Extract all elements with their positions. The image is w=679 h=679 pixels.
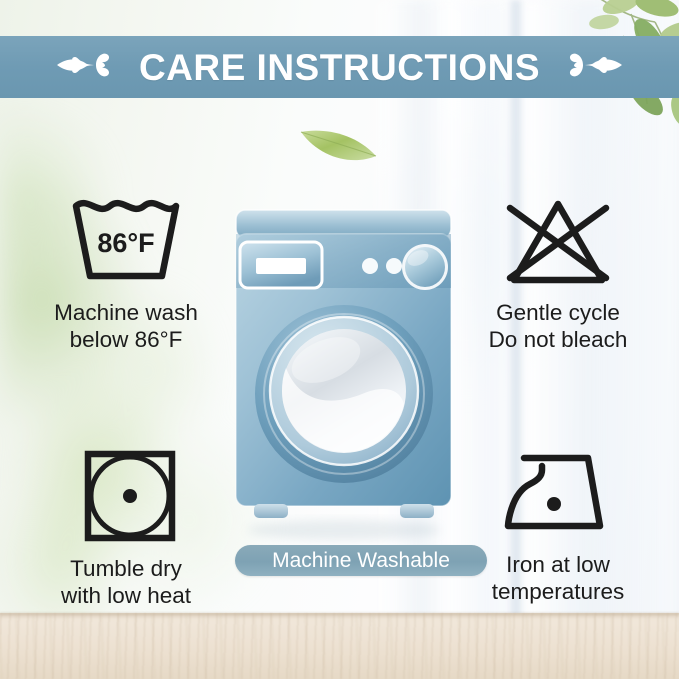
- control-knob: [402, 244, 448, 290]
- tumble-dry-heat-dot: [123, 489, 137, 503]
- table-wood-grain: [0, 613, 679, 679]
- tumble-dry-icon: [8, 448, 244, 549]
- care-symbol-caption: Machine wash below 86°F: [8, 299, 244, 353]
- wash-tub-icon: 86°F: [8, 196, 244, 293]
- care-symbol-caption: Gentle cycle Do not bleach: [440, 299, 676, 353]
- crossed-triangle-icon: [440, 196, 676, 293]
- care-symbol-machine-wash: 86°F Machine wash below 86°F: [8, 196, 244, 353]
- page-title: CARE INSTRUCTIONS: [139, 49, 540, 86]
- wooden-table-surface: [0, 613, 679, 679]
- floating-leaf-icon: [296, 118, 382, 170]
- iron-temperature-dot: [547, 497, 561, 511]
- washing-machine-illustration: [228, 208, 459, 544]
- fleur-de-lis-icon: [55, 45, 117, 90]
- badge-label: Machine Washable: [272, 550, 450, 571]
- iron-icon: [440, 448, 676, 545]
- wash-temperature-value: 86°F: [97, 228, 154, 258]
- fleur-de-lis-icon: [562, 45, 624, 90]
- indicator-light: [386, 258, 402, 274]
- machine-foot: [400, 504, 434, 518]
- porthole-door: [255, 305, 433, 483]
- detergent-drawer: [240, 242, 322, 288]
- indicator-light: [362, 258, 378, 274]
- care-symbol-iron-low: Iron at low temperatures: [440, 448, 676, 605]
- machine-washable-badge: Machine Washable: [235, 545, 487, 576]
- machine-foot: [254, 504, 288, 518]
- care-instructions-infographic: CARE INSTRUCTIONS 86°F Machine wash belo…: [0, 0, 679, 679]
- care-symbol-tumble-dry-low: Tumble dry with low heat: [8, 448, 244, 609]
- care-symbol-gentle-cycle-no-bleach: Gentle cycle Do not bleach: [440, 196, 676, 353]
- care-symbol-caption: Tumble dry with low heat: [8, 555, 244, 609]
- header-banner: CARE INSTRUCTIONS: [0, 36, 679, 98]
- machine-shadow: [248, 520, 440, 540]
